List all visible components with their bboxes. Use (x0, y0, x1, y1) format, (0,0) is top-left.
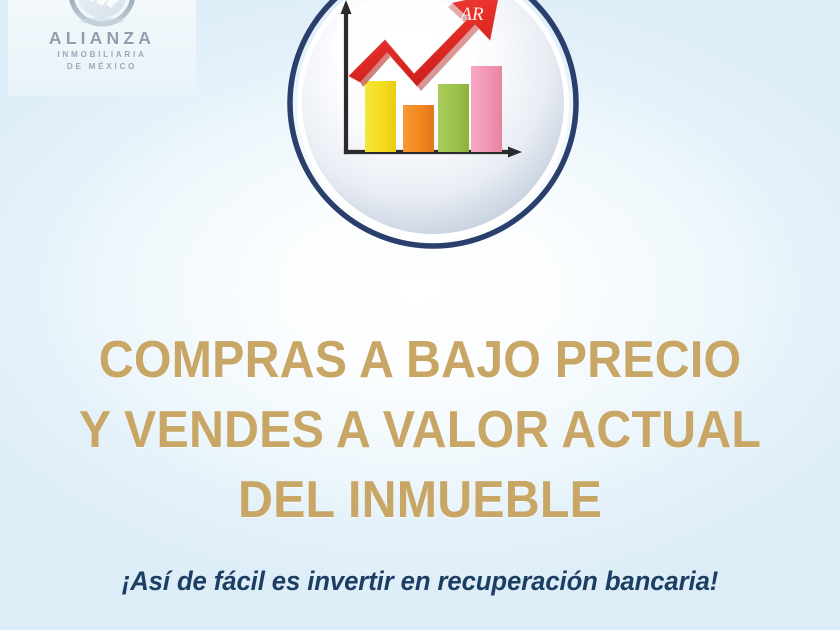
page-title: COMPRAS A BAJO PRECIO Y VENDES A VALOR A… (0, 334, 840, 526)
headline-line-3: DEL INMUEBLE (29, 474, 810, 526)
logo-subtitle-line2: DE MÉXICO (8, 62, 196, 71)
promo-poster: ALIANZA INMOBILIARIA DE MÉXICO (0, 0, 840, 630)
badge-monogram: AR (458, 4, 484, 25)
bar-3 (438, 84, 469, 152)
headline-line-1: COMPRAS A BAJO PRECIO (29, 334, 810, 386)
growth-bar-chart-badge-icon: AR (286, 0, 580, 250)
logo-company-name: ALIANZA (8, 29, 196, 47)
tagline: ¡Así de fácil es invertir en recuperació… (13, 566, 828, 597)
bar-4 (471, 66, 502, 152)
headline-line-2: Y VENDES A VALOR ACTUAL (29, 404, 810, 456)
bar-2 (403, 105, 434, 152)
alianza-circular-emblem-icon (54, 0, 150, 28)
bar-1 (365, 81, 396, 152)
logo-subtitle-line1: INMOBILIARIA (8, 50, 196, 59)
company-logo: ALIANZA INMOBILIARIA DE MÉXICO (8, 0, 196, 96)
